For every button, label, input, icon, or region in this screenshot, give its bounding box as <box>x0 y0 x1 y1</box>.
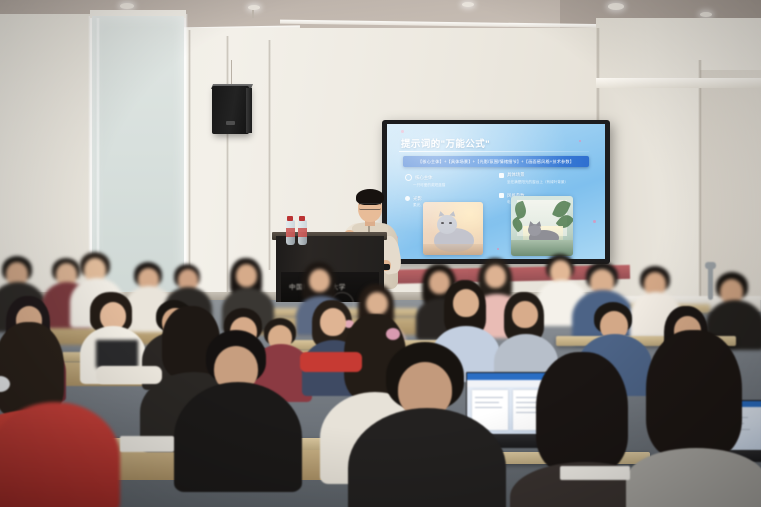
screen-glare <box>387 124 605 259</box>
paper-front-right <box>560 466 630 480</box>
projection-screen[interactable]: 提示词的"万能公式" 【核心主体】+【具体场景】+【光影/氛围/情绪细节】+【画… <box>387 124 605 259</box>
faucet-handle-2 <box>705 262 716 269</box>
speaker-side <box>246 88 252 133</box>
wall-seam-3 <box>268 40 271 270</box>
glasses-icon <box>359 203 381 210</box>
notebook-front-left <box>120 436 174 452</box>
wall-seam-5 <box>698 60 702 310</box>
speaker-badge <box>226 121 235 125</box>
right-wall-cornice <box>596 78 761 88</box>
hair-tie-front <box>386 328 400 340</box>
red-bag-on-desk <box>300 352 362 372</box>
wall-seam-2 <box>226 36 229 304</box>
wall-mounted-loudspeaker <box>212 86 249 134</box>
white-bag-on-desk <box>96 366 162 384</box>
faucet-2 <box>708 266 713 300</box>
ceiling-downlight-2 <box>248 5 260 10</box>
ceiling-downlight-3 <box>462 2 474 7</box>
lecture-hall-photo: 提示词的"万能公式" 【核心主体】+【具体场景】+【光影/氛围/情绪细节】+【画… <box>0 0 761 507</box>
speaker-hanger <box>252 10 254 18</box>
ceiling-downlight-5 <box>700 12 712 17</box>
ceiling-downlight-4 <box>608 3 624 10</box>
ceiling-downlight-1 <box>120 3 134 9</box>
